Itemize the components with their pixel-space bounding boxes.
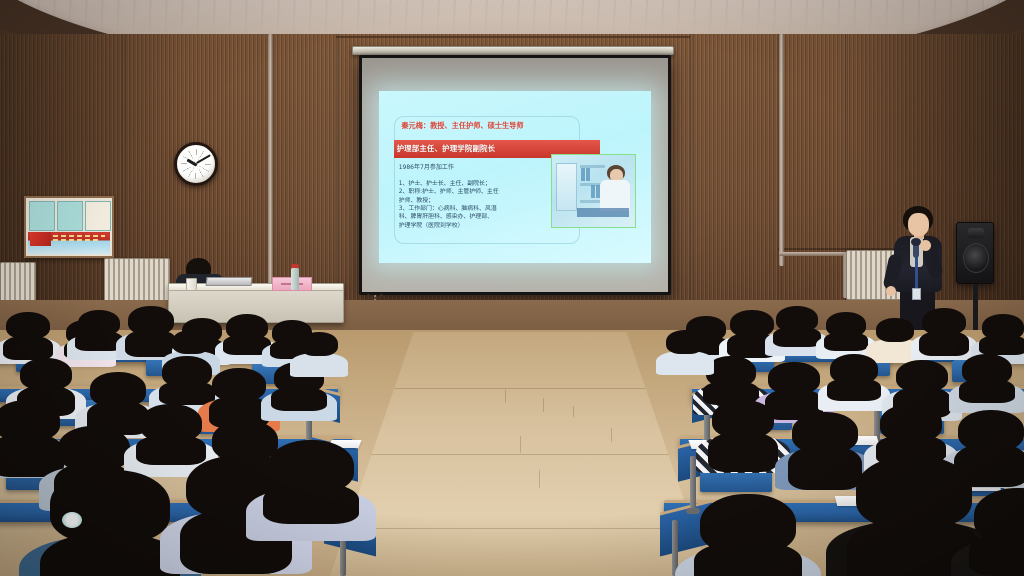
screen-roller-case (352, 46, 674, 55)
student-hair (876, 318, 914, 342)
student-l-b1 (6, 312, 50, 356)
student-r-f2 (792, 412, 858, 478)
speaker-woofer (963, 243, 989, 273)
slide-body-line: 护师、教授； (399, 197, 554, 205)
student-shoulder-hair (959, 379, 1015, 403)
student-shoulder-hair (919, 331, 968, 357)
projection-screen: 秦元梅：教授、主任护师、硕士生导师 护理部主任、护理学院副院长 1986年7月参… (359, 55, 671, 295)
presenter-badge (912, 288, 921, 300)
wall-clock (174, 142, 218, 186)
slide-banner-text: 护理部主任、护理学院副院长 (394, 143, 496, 154)
student-l-b3 (78, 310, 120, 352)
slide-title: 秦元梅：教授、主任护师、硕士生导师 (401, 122, 633, 130)
stanchion-foot-right-2 (686, 508, 700, 514)
student-l-m3 (162, 356, 212, 406)
slide-content: 秦元梅：教授、主任护师、硕士生导师 护理部主任、护理学院副院长 1986年7月参… (386, 97, 644, 257)
floor-grain-6 (539, 470, 540, 488)
slide-body-line: 科、脾胃肝胆科、感染办、护理部、 (399, 213, 554, 221)
screen-surface: 秦元梅：教授、主任护师、硕士生导师 护理部主任、护理学院副院长 1986年7月参… (362, 58, 668, 292)
student-shoulder-hair (3, 336, 52, 361)
student-l-fg3 (268, 440, 354, 526)
presenter-face (908, 213, 929, 236)
student-body (656, 351, 714, 375)
noticeboard-panel-2 (57, 201, 83, 231)
student-body (290, 353, 348, 377)
noticeboard-banner (28, 232, 110, 254)
photo-desk (577, 208, 629, 217)
student-r-b6 (922, 308, 966, 352)
student-r-m3 (830, 354, 878, 402)
floor-grain-2 (543, 398, 544, 412)
banner-text-line-1 (53, 235, 106, 237)
student-l-f1 (0, 400, 60, 466)
student-shoulder-hair (271, 387, 327, 411)
floor-grain-4 (520, 436, 521, 453)
student-shoulder-hair (969, 533, 1024, 576)
laptop (206, 277, 253, 286)
speaker-tweeter (968, 228, 984, 238)
photo-binder-3 (591, 185, 594, 198)
slide-body-line: 1、护士、护士长、主任、副院长； (399, 180, 554, 188)
photo-binder-4 (596, 185, 599, 198)
lecture-hall-photo: 秦元梅：教授、主任护师、硕士生导师 护理部主任、护理学院副院长 1986年7月参… (0, 0, 1024, 576)
student-hair (172, 330, 210, 354)
presentation-slide: 秦元梅：教授、主任护师、硕士生导师 护理部主任、护理学院副院长 1986年7月参… (379, 91, 651, 263)
student-r-f1 (712, 400, 774, 462)
wall-panel-line-top (336, 36, 690, 38)
pipe-right (779, 34, 784, 266)
slide-body-line: 3、工作部门：心病科、脑病科、风湿 (399, 205, 554, 213)
student-l-m4 (212, 368, 266, 422)
photo-binder-1 (581, 168, 584, 181)
flag-graphic (30, 232, 51, 246)
noticeboard-panel-3 (85, 201, 111, 231)
noticeboard-panel-1 (29, 201, 55, 231)
student-shoulder-hair (263, 483, 359, 524)
student-hair (666, 330, 704, 354)
floor-grain-5 (611, 428, 612, 442)
floor-plank-3 (330, 528, 710, 529)
student-r-m2 (768, 362, 820, 414)
student-shoulder-hair (788, 446, 862, 490)
student-shoulder-hair (827, 378, 881, 401)
student-r-m5 (962, 354, 1012, 404)
student-shoulder-hair (40, 534, 179, 576)
student-shoulder-hair (708, 432, 777, 472)
slide-body-text: 1、护士、护士长、主任、副院长；2、职称:护士、护师、主管护师、主任护师、教授；… (399, 180, 554, 230)
floor-grain-3 (573, 406, 574, 417)
floor-grain-1 (505, 390, 506, 403)
hair-bow (62, 512, 82, 528)
student-r-fg3 (700, 494, 796, 576)
slide-subtitle: 1986年7月参加工作 (399, 162, 454, 171)
noticeboard (24, 196, 114, 258)
student-aisle-right (666, 330, 704, 368)
student-l-b4 (128, 306, 174, 352)
slide-body-line: 护理学院（医院到学校） (399, 222, 554, 230)
banner-text-line-2 (53, 239, 101, 241)
student-hair (300, 332, 338, 356)
photo-binder-2 (586, 168, 589, 181)
pipe-left (268, 34, 273, 296)
screen-pull-ring (367, 292, 383, 299)
cup (186, 278, 197, 291)
student-shoulder-hair (979, 335, 1024, 355)
water-bottle (291, 268, 299, 290)
student-hair (856, 456, 972, 528)
student-r-b7 (982, 314, 1024, 356)
slide-photo (551, 154, 636, 228)
student-l-m2 (90, 372, 146, 428)
student-r-b5 (876, 318, 914, 356)
floor-plank-2 (330, 454, 710, 455)
student-shoulder-hair (824, 332, 869, 351)
student-shoulder-hair (125, 330, 177, 357)
student-r-b3 (776, 306, 818, 348)
student-r-b4 (826, 312, 866, 352)
presenter-right-hand (920, 240, 931, 251)
student-shoulder-hair (159, 381, 215, 405)
student-shoulder-hair (773, 327, 820, 347)
presenter-left-hand (886, 286, 896, 296)
photo-window (556, 163, 578, 212)
student-r-fg2 (974, 488, 1024, 576)
photo-person-body (600, 180, 630, 211)
student-hair (50, 470, 170, 543)
slide-body-line: 2、职称:护士、护师、主管护师、主任 (399, 188, 554, 196)
student-shoulder-hair (694, 542, 802, 576)
pa-speaker (956, 222, 994, 284)
student-aisle-left (300, 332, 338, 370)
